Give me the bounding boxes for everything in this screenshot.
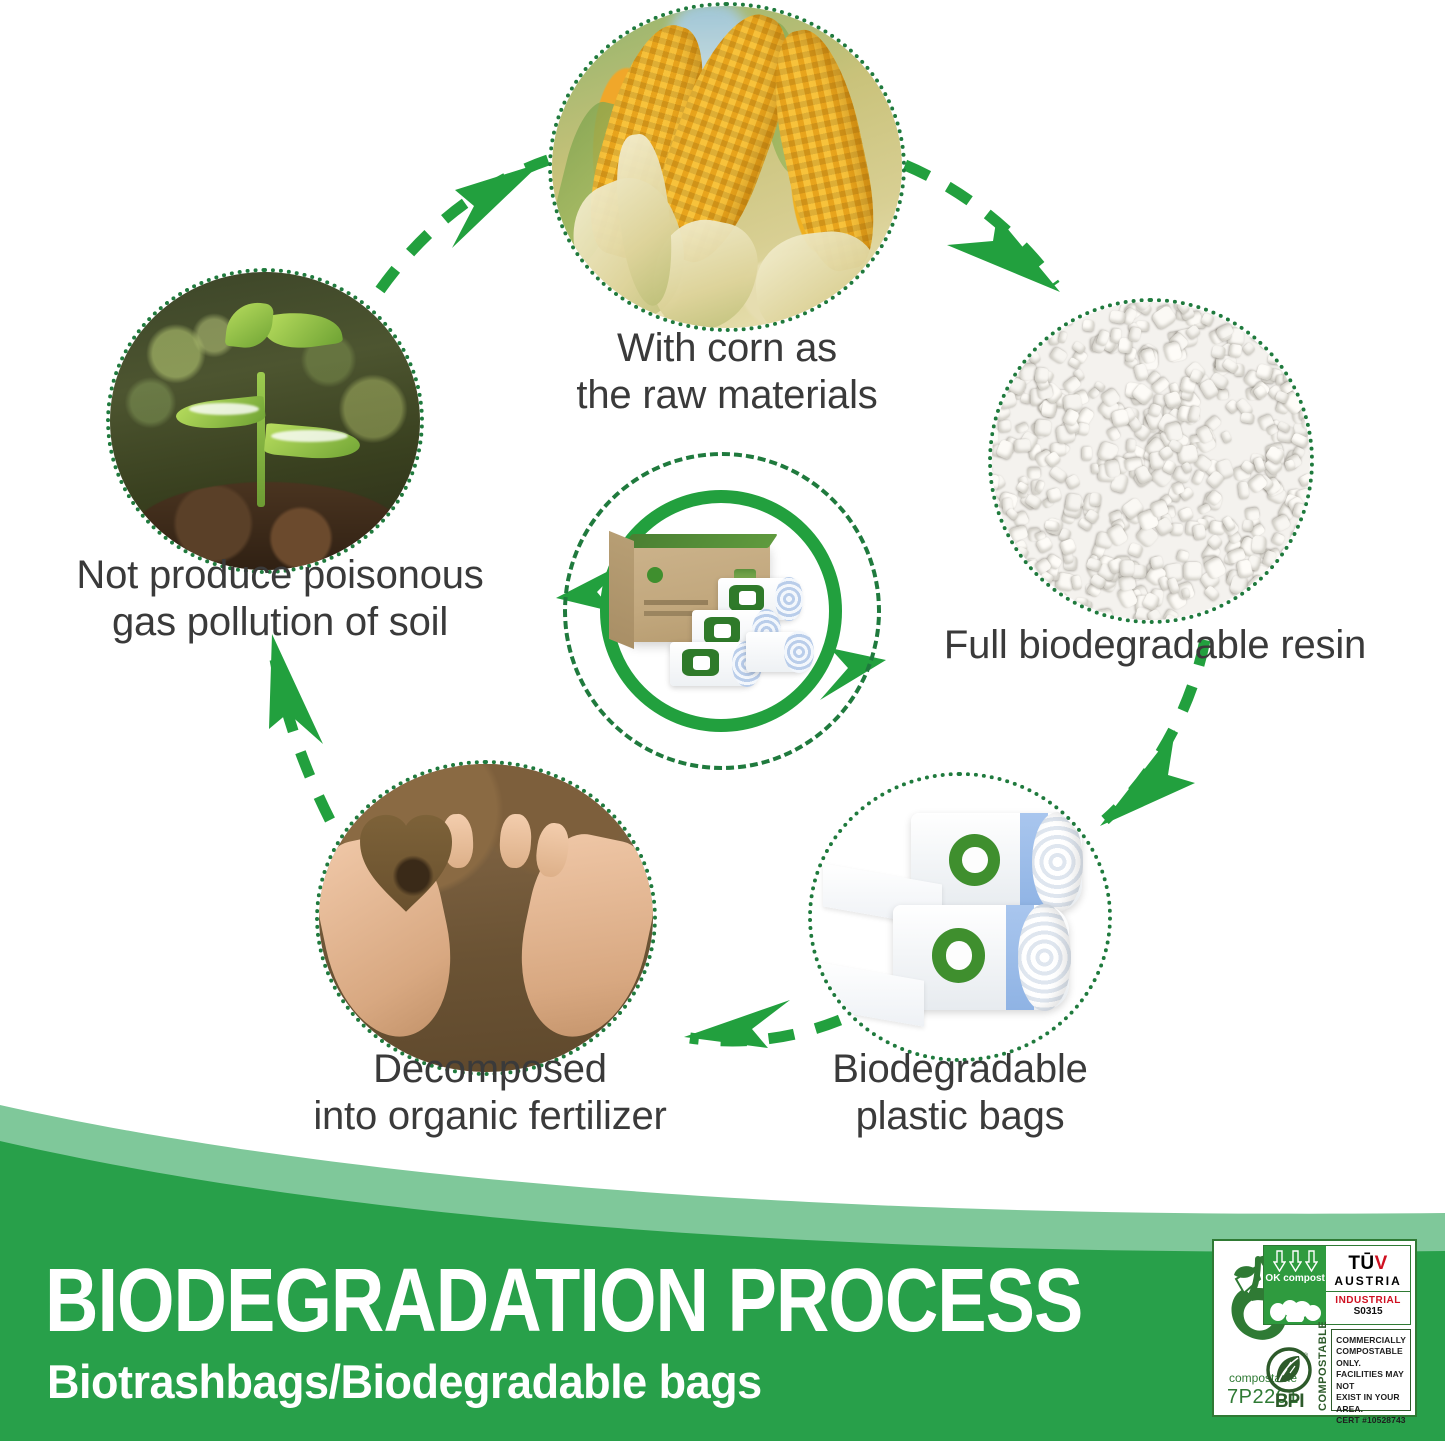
ok-compost-certification: OK compost TŪV AUSTRIA INDUSTR [1263,1245,1411,1325]
tuv-brand-text: TŪV [1348,1253,1388,1274]
bpi-compostable-vertical-label: COMPOSTABLE [1317,1329,1329,1411]
bag-rolls-photo [808,772,1112,1062]
arrowhead-to-resin [947,216,1060,292]
seedling-in-soil-photo [106,268,424,574]
tuv-austria-text: AUSTRIA [1334,1274,1401,1288]
ok-compost-label: OK compost [1265,1273,1324,1284]
arrowhead-to-corn [452,163,541,248]
arrowhead-to-bags [1100,730,1195,826]
tuv-grade: INDUSTRIAL [1335,1295,1401,1306]
arrowhead-to-seedling [269,634,323,744]
corn-cobs-photo [548,2,906,332]
white-resin-pellets-photo [988,298,1314,624]
svg-text:®: ® [1303,1352,1309,1360]
bpi-leaf-icon: ® [1265,1346,1313,1394]
bag-roll-lower [893,905,1069,1009]
product-box-with-bag-rolls [608,520,838,710]
mini-roll-4 [746,632,810,672]
tuv-number: S0315 [1354,1306,1383,1317]
bpi-mark: ® BPI [1263,1329,1315,1411]
bpi-wordmark: BPI [1275,1392,1304,1411]
banner-subtitle: Biotrashbags/Biodegradable bags [47,1355,762,1410]
arrow-path-corn-to-resin [905,165,1055,285]
caption-resin: Full biodegradable resin [905,622,1405,669]
mini-roll-3 [670,642,758,686]
bag-roll-upper [911,813,1081,912]
banner-title: BIODEGRADATION PROCESS [45,1248,1082,1352]
ok-compost-flower-icon [1268,1300,1322,1322]
caption-corn: With corn as the raw materials [527,325,927,419]
seedling-certification: ® compostable 7P2261 [1214,1241,1263,1415]
caption-seedling: Not produce poisonous gas pollution of s… [20,552,540,646]
hands-holding-heart-soil-photo [315,760,657,1076]
tuv-austria-panel: TŪV AUSTRIA INDUSTRIAL S0315 [1326,1246,1410,1324]
bpi-disclaimer: COMMERCIALLY COMPOSTABLE ONLY. FACILITIE… [1331,1329,1411,1411]
arrow-path-fertilizer-to-seedling [272,640,330,820]
ok-compost-arrows-icon [1273,1250,1318,1272]
infographic-canvas: With corn as the raw materials Full biod… [0,0,1445,1441]
ok-compost-green-panel: OK compost [1264,1246,1326,1324]
bpi-certification: ® BPI COMPOSTABLE COMMERCIALLY COMPOSTAB… [1263,1329,1411,1411]
certification-block: ® compostable 7P2261 OK compost [1212,1239,1417,1417]
tuv-brand: TŪV [1348,1254,1388,1273]
arrow-path-seedling-to-corn [380,160,548,290]
arrowhead-to-fertilizer [684,1000,790,1048]
